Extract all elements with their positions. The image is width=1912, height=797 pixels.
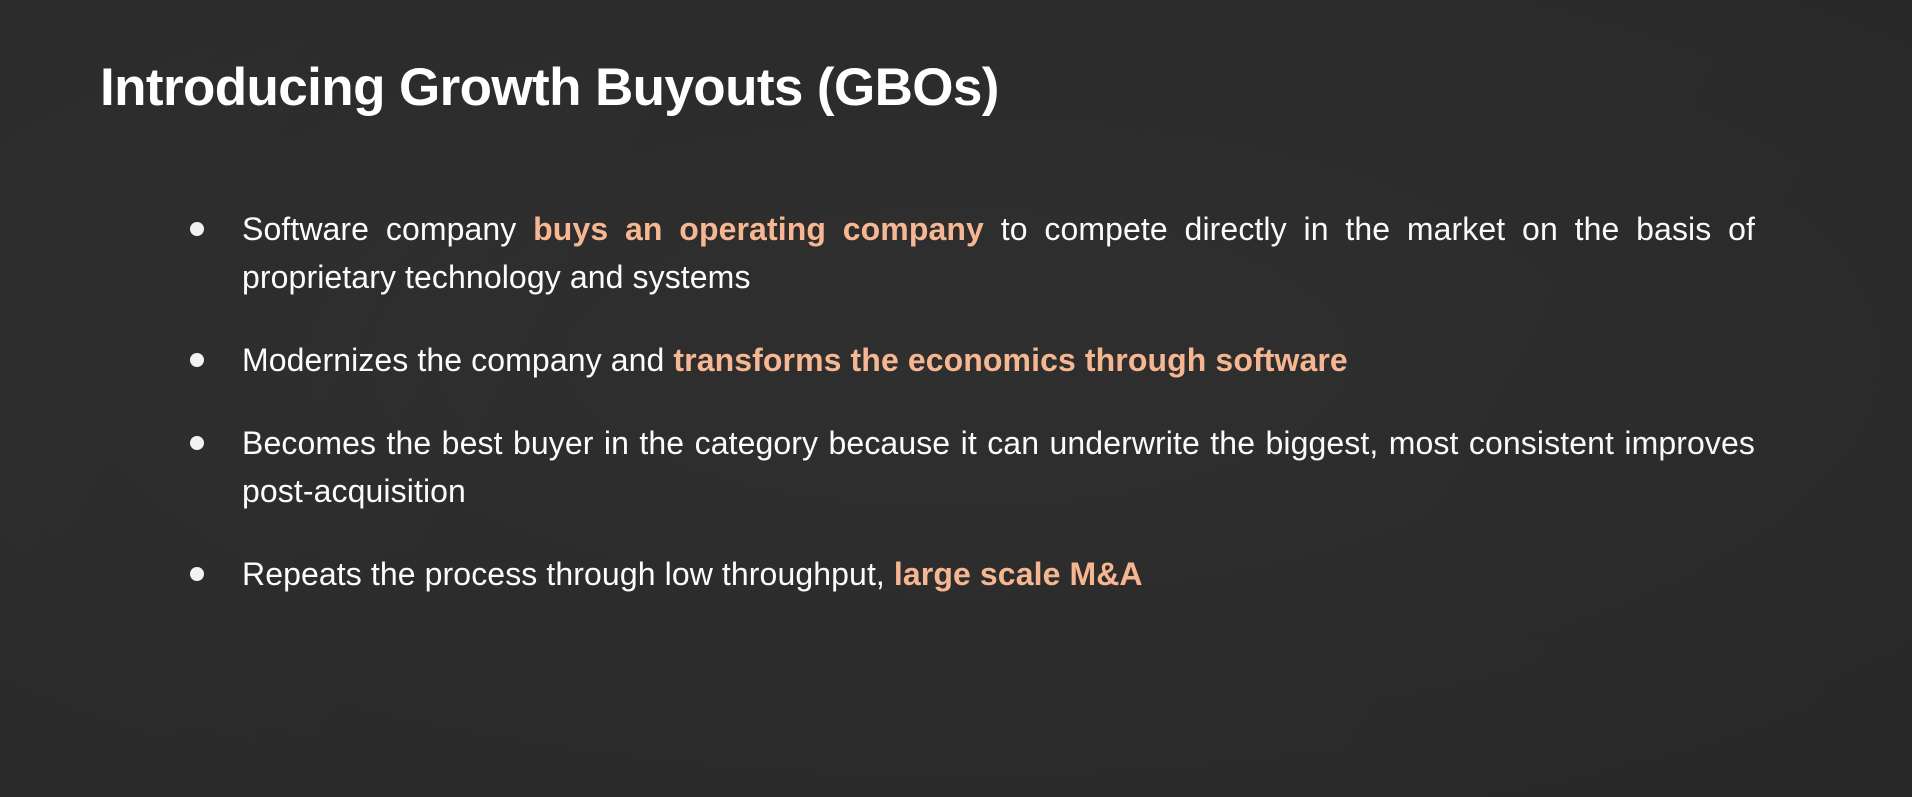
bullet-list: Software company buys an operating compa… [190, 205, 1755, 598]
bullet-item-2-text: Modernizes the company and transforms th… [242, 336, 1755, 384]
highlighted-phrase: buys an operating company [533, 211, 984, 247]
page-title: Introducing Growth Buyouts (GBOs) [100, 58, 999, 119]
bullet-item-1-text: Software company buys an operating compa… [242, 205, 1755, 301]
body-text-run: Repeats the process through low throughp… [242, 556, 894, 592]
list-item: Software company buys an operating compa… [190, 205, 1755, 301]
list-item: Modernizes the company and transforms th… [190, 336, 1755, 384]
bullet-point-icon [190, 205, 242, 236]
slide-canvas: Introducing Growth Buyouts (GBOs) Softwa… [0, 0, 1912, 797]
bullet-point-icon [190, 336, 242, 367]
bullet-point-icon [190, 550, 242, 581]
body-text-run: Becomes the best buyer in the category b… [242, 425, 1764, 509]
list-item: Repeats the process through low throughp… [190, 550, 1755, 598]
body-text-run: Software company [242, 211, 533, 247]
bullet-item-3-text: Becomes the best buyer in the category b… [242, 419, 1755, 515]
highlighted-phrase: large scale M&A [894, 556, 1143, 592]
body-text-run: Modernizes the company and [242, 342, 673, 378]
highlighted-phrase: transforms the economics through softwar… [673, 342, 1347, 378]
bullet-item-4-text: Repeats the process through low throughp… [242, 550, 1755, 598]
list-item: Becomes the best buyer in the category b… [190, 419, 1755, 515]
bullet-point-icon [190, 419, 242, 450]
